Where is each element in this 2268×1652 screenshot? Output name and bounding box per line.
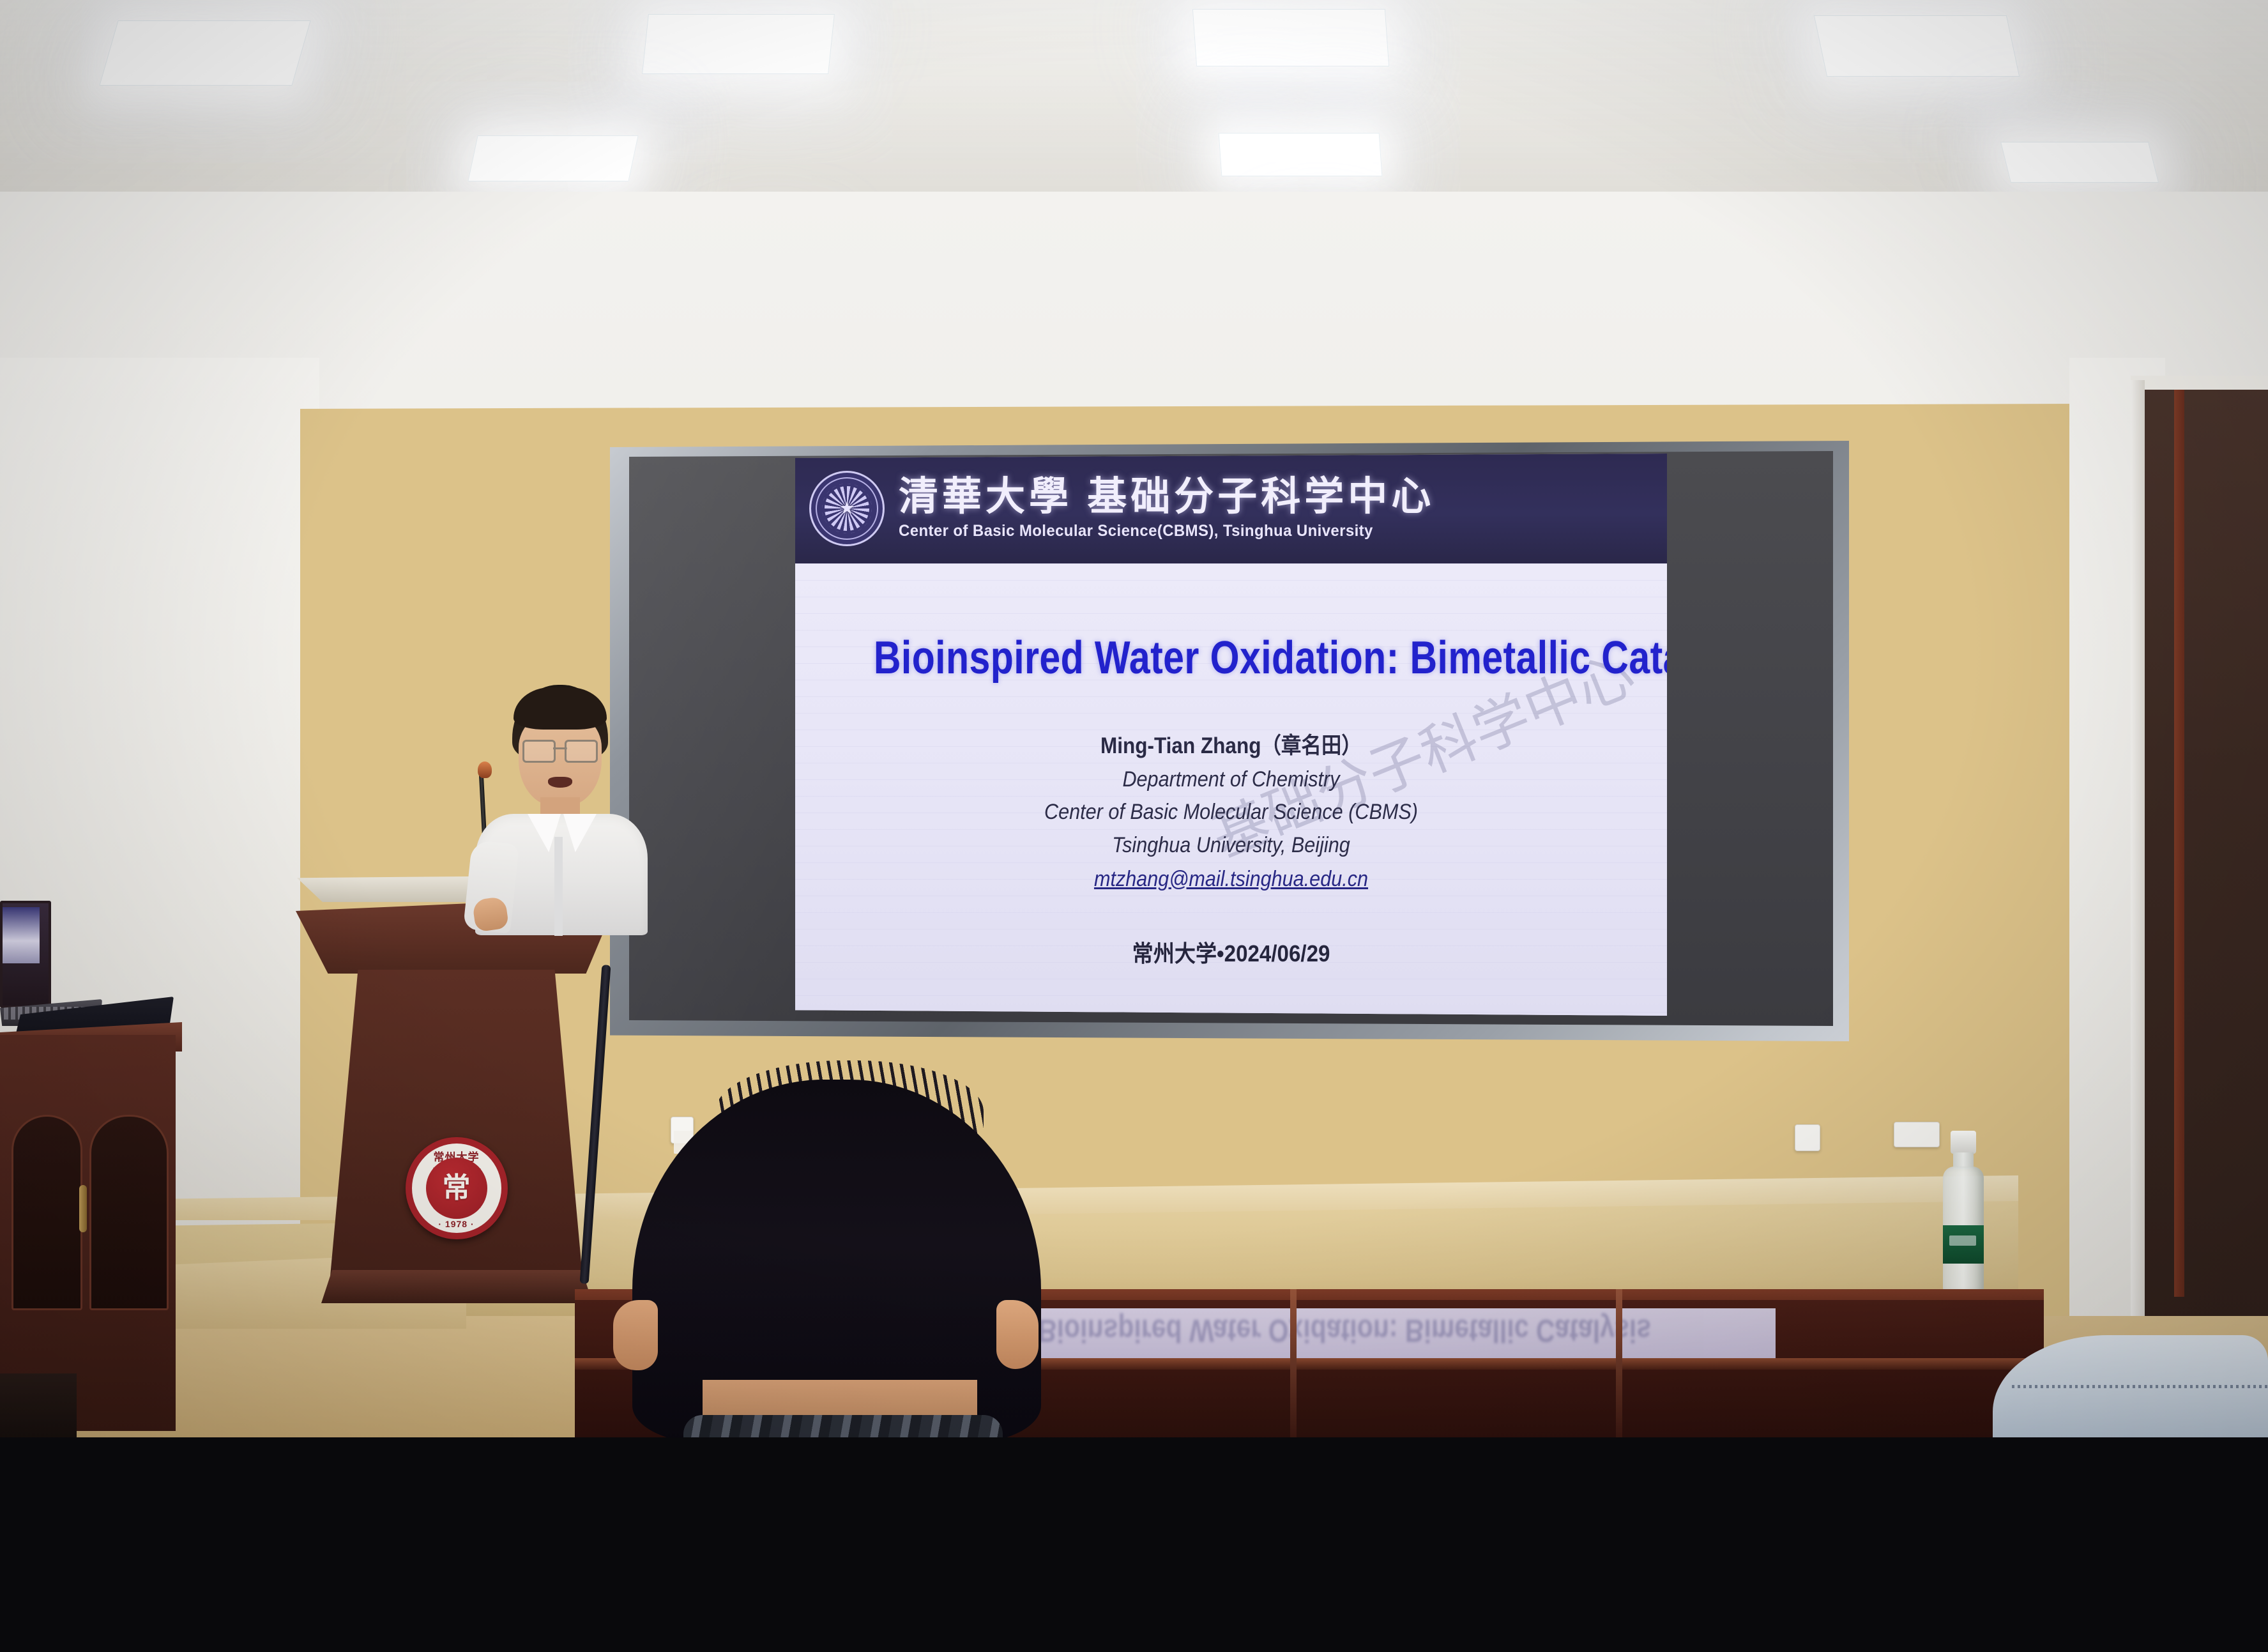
letterbox-bottom-right <box>2005 1441 2268 1652</box>
slide-body: 基础分子科学中心 Bioinspired Water Oxidation: Bi… <box>795 563 1667 1016</box>
glasses-icon <box>521 740 599 759</box>
emblem-ring: 常州大学 CHANGZHOU UNIVERSITY 常 · 1978 · <box>412 1143 501 1233</box>
letterbox-bottom <box>0 1437 2268 1652</box>
photo-frame: 清華大學 基础分子科学中心 Center of Basic Molecular … <box>0 0 2268 1441</box>
emblem-core: 常 <box>426 1158 487 1219</box>
desk-seam <box>1616 1289 1622 1441</box>
author-email-link[interactable]: mtzhang@mail.tsinghua.edu.cn <box>839 862 1624 896</box>
ceiling-light-panel <box>99 20 310 86</box>
audience-left-edge <box>0 1373 77 1441</box>
doorway <box>2140 383 2268 1342</box>
ceiling-light-panel <box>1814 15 2020 77</box>
slide-title: Bioinspired Water Oxidation: Bimetallic … <box>874 635 1588 681</box>
ceiling-light-panel <box>2000 142 2159 183</box>
door-jamb <box>2174 390 2184 1297</box>
ceiling-light-panel <box>1219 133 1383 176</box>
bottle-cap <box>1951 1131 1976 1154</box>
lecture-hall-photo: 清華大學 基础分子科学中心 Center of Basic Molecular … <box>0 0 2268 1652</box>
speaker-shirt-placket <box>554 837 563 936</box>
ceiling-light-panel <box>468 135 638 181</box>
author-affiliation-line-3: Tsinghua University, Beijing <box>839 829 1624 862</box>
slide-header-text: 清華大學 基础分子科学中心 Center of Basic Molecular … <box>899 477 1435 540</box>
audience-ear-left <box>613 1300 658 1370</box>
speaker-mouth <box>548 777 572 788</box>
podium-cable <box>580 965 611 1284</box>
monitor-screen <box>3 907 40 963</box>
glasses-lens-left <box>522 740 556 763</box>
speaker-hair-front <box>514 687 607 730</box>
cabinet-door-left[interactable] <box>11 1115 82 1310</box>
cabinet-door-right[interactable] <box>89 1115 169 1310</box>
cabinet-handle[interactable] <box>79 1185 87 1232</box>
podium-base <box>321 1270 593 1303</box>
podium-body: 常州大学 CHANGZHOU UNIVERSITY 常 · 1978 · <box>330 970 582 1276</box>
emblem-center-glyph: 常 <box>443 1174 471 1202</box>
slide-header-english: Center of Basic Molecular Science(CBMS),… <box>899 521 1413 540</box>
emblem-year: · 1978 · <box>412 1219 501 1229</box>
ceiling-light-panel <box>642 14 835 74</box>
tsinghua-seal-icon <box>809 471 885 546</box>
wall-socket <box>1795 1124 1820 1151</box>
wall-socket <box>1894 1122 1940 1147</box>
monitor-icon <box>0 901 51 1008</box>
door-header <box>2131 376 2268 390</box>
audience-ear-right <box>996 1300 1039 1369</box>
author-affiliation-line-2: Center of Basic Molecular Science (CBMS) <box>839 796 1624 829</box>
door-frame <box>2131 380 2145 1345</box>
desk-slide-reflection: Bioinspired Water Oxidation: Bimetallic … <box>913 1308 1776 1365</box>
slide-footer-venue-date: 常州大学•2024/06/29 <box>830 935 1633 968</box>
changzhou-university-emblem: 常州大学 CHANGZHOU UNIVERSITY 常 · 1978 · <box>406 1137 508 1239</box>
projected-slide: 清華大學 基础分子科学中心 Center of Basic Molecular … <box>795 454 1667 1016</box>
reflection-text: Bioinspired Water Oxidation: Bimetallic … <box>991 1312 1698 1349</box>
speaker-person <box>466 677 664 933</box>
bottle-label <box>1943 1225 1984 1264</box>
podium: 常州大学 CHANGZHOU UNIVERSITY 常 · 1978 · <box>291 875 623 1310</box>
author-name: Ming-Tian Zhang（章名田） <box>839 730 1624 763</box>
slide-header-banner: 清華大學 基础分子科学中心 Center of Basic Molecular … <box>795 454 1667 563</box>
slide-author-block: Ming-Tian Zhang（章名田） Department of Chemi… <box>795 730 1667 896</box>
desk-seam <box>1290 1289 1297 1441</box>
glasses-lens-right <box>565 740 598 763</box>
author-affiliation-line-1: Department of Chemistry <box>839 763 1624 797</box>
ceiling-light-panel <box>1192 9 1389 66</box>
slide-header-chinese: 清華大學 基础分子科学中心 <box>899 477 1435 517</box>
water-bottle <box>1942 1131 1985 1297</box>
